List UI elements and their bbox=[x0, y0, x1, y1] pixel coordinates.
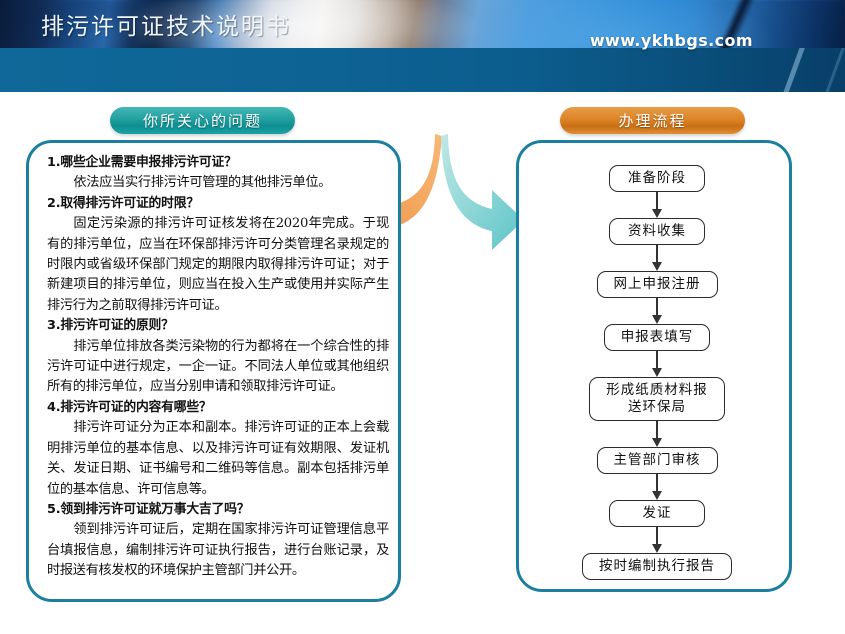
flow-arrow-icon bbox=[652, 245, 663, 271]
faq-answer: 固定污染源的排污许可证核发将在2020年完成。于现有的排污单位，应当在环保部排污… bbox=[47, 214, 389, 316]
process-flowchart: 准备阶段 资料收集 网上申报注册 申报表填写 形成纸质材料报 送环保局 主管部门… bbox=[519, 165, 795, 580]
flow-step: 形成纸质材料报 送环保局 bbox=[589, 377, 725, 421]
flow-step: 按时编制执行报告 bbox=[582, 553, 732, 580]
flow-arrow-icon bbox=[652, 298, 663, 324]
flow-step: 准备阶段 bbox=[609, 165, 705, 192]
tab-questions[interactable]: 你所关心的问题 bbox=[110, 107, 295, 134]
flow-arrow-icon bbox=[652, 192, 663, 218]
faq-question: 1.哪些企业需要申报排污许可证？ bbox=[47, 153, 389, 173]
page-title: 排污许可证技术说明书 bbox=[41, 7, 291, 41]
flow-arrow-icon bbox=[652, 474, 663, 500]
faq-list: 1.哪些企业需要申报排污许可证？ 依法应当实行排污许可管理的其他排污单位。 2.… bbox=[47, 153, 389, 582]
faq-question: 4.排污许可证的内容有哪些？ bbox=[47, 398, 389, 418]
faq-question: 5.领到排污许可证就万事大吉了吗？ bbox=[47, 500, 389, 520]
flow-arrow-icon bbox=[652, 421, 663, 447]
process-panel: 准备阶段 资料收集 网上申报注册 申报表填写 形成纸质材料报 送环保局 主管部门… bbox=[516, 140, 792, 592]
titlebar-diagonal-accent bbox=[771, 48, 810, 92]
titlebar-diagonal-accent-2 bbox=[813, 48, 845, 92]
flow-step: 主管部门审核 bbox=[597, 447, 718, 474]
faq-answer: 排污单位排放各类污染物的行为都将在一个综合性的排污许可证中进行规定，一企一证。不… bbox=[47, 337, 389, 398]
curved-arrow-right-shape bbox=[441, 134, 522, 250]
flow-step: 申报表填写 bbox=[604, 324, 711, 351]
flow-step: 网上申报注册 bbox=[597, 271, 718, 298]
faq-question: 2.取得排污许可证的时限？ bbox=[47, 194, 389, 214]
site-url: www.ykhbgs.com bbox=[590, 31, 753, 50]
flow-step: 发证 bbox=[609, 500, 705, 527]
tab-process[interactable]: 办理流程 bbox=[560, 107, 745, 134]
flow-step: 资料收集 bbox=[609, 218, 705, 245]
questions-panel: 1.哪些企业需要申报排污许可证？ 依法应当实行排污许可管理的其他排污单位。 2.… bbox=[26, 140, 401, 602]
title-bar bbox=[0, 48, 845, 92]
faq-answer: 领到排污许可证后，定期在国家排污许可证管理信息平台填报信息，编制排污许可证执行报… bbox=[47, 520, 389, 581]
flow-arrow-icon bbox=[652, 527, 663, 553]
faq-question: 3.排污许可证的原则？ bbox=[47, 316, 389, 336]
flow-arrow-icon bbox=[652, 351, 663, 377]
faq-answer: 排污许可证分为正本和副本。排污许可证的正本上会载明排污单位的基本信息、以及排污许… bbox=[47, 418, 389, 500]
faq-answer: 依法应当实行排污许可管理的其他排污单位。 bbox=[47, 173, 389, 193]
